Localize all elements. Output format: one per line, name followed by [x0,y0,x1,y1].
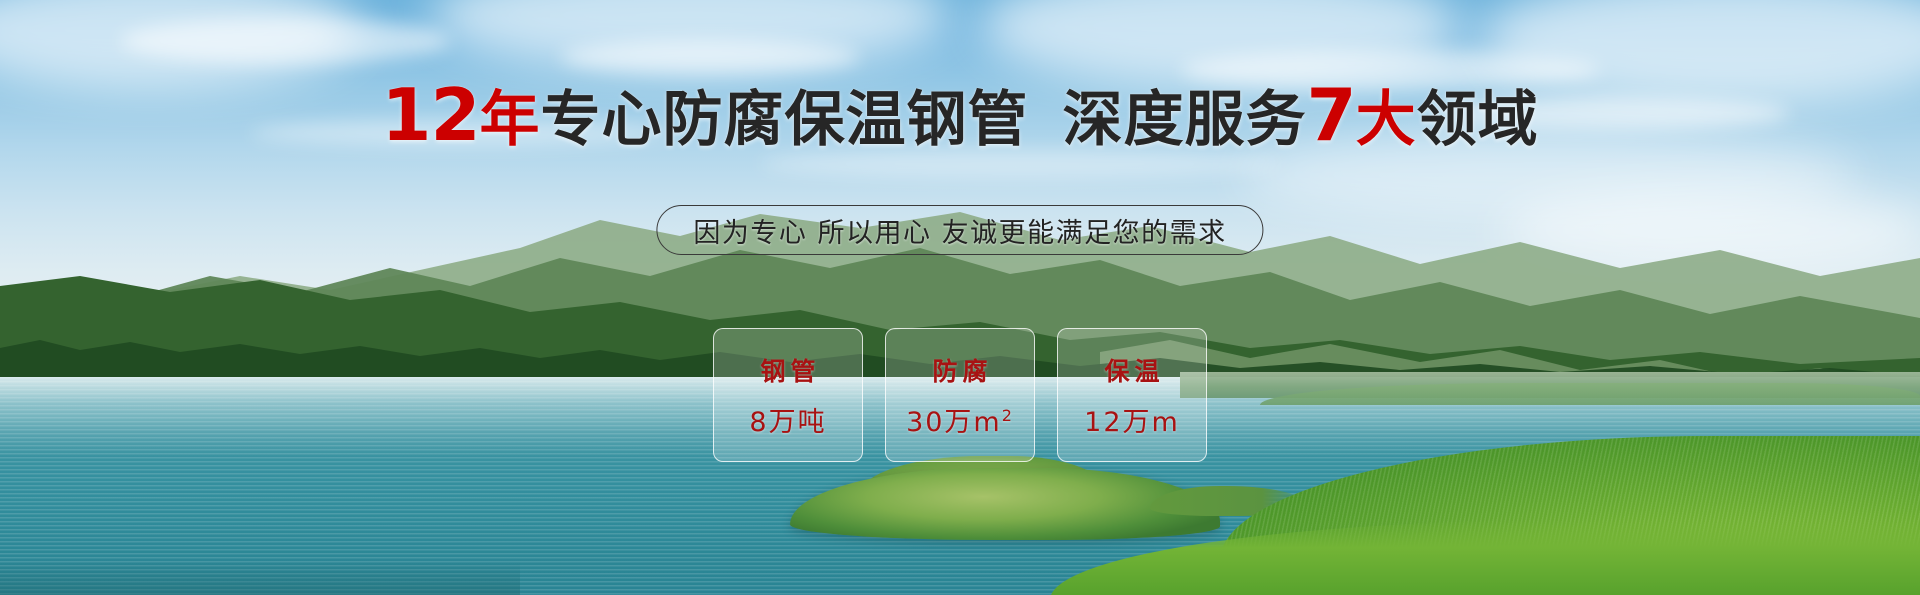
headline-fields-unit: 大 [1356,85,1417,155]
headline-fields-number: 7 [1307,73,1356,157]
stat-card-value-main: 30万m [906,407,1002,438]
stat-card-value-superscript: 2 [1002,406,1014,425]
stat-card-title: 防腐 [927,352,992,388]
subtitle-text: 因为专心 所以用心 友诚更能满足您的需求 [693,211,1226,250]
stat-card-steel-pipe[interactable]: 钢管 8万吨 [713,328,863,462]
stat-card-anticorrosion[interactable]: 防腐 30万m2 [885,328,1035,462]
headline-years-number: 12 [381,73,479,157]
headline-middle: 专心防腐保温钢管 [541,85,1029,155]
stat-card-value: 12万m [1084,400,1180,439]
stat-card-title: 保温 [1099,352,1164,388]
stat-card-title: 钢管 [755,352,820,388]
hero-banner: 12年专心防腐保温钢管深度服务7大领域 因为专心 所以用心 友诚更能满足您的需求… [0,0,1920,595]
page-title: 12年专心防腐保温钢管深度服务7大领域 [0,82,1920,153]
stat-card-insulation[interactable]: 保温 12万m [1057,328,1207,462]
stat-card-value: 8万吨 [749,400,826,439]
headline-years-unit: 年 [480,85,541,155]
stat-card-group: 钢管 8万吨 防腐 30万m2 保温 12万m [713,328,1207,462]
stat-card-value: 30万m2 [906,400,1014,439]
headline-second: 深度服务 [1063,85,1307,155]
headline-tail: 领域 [1417,85,1539,155]
subtitle-pill: 因为专心 所以用心 友诚更能满足您的需求 [656,205,1263,255]
left-shore-shadow [0,560,520,595]
